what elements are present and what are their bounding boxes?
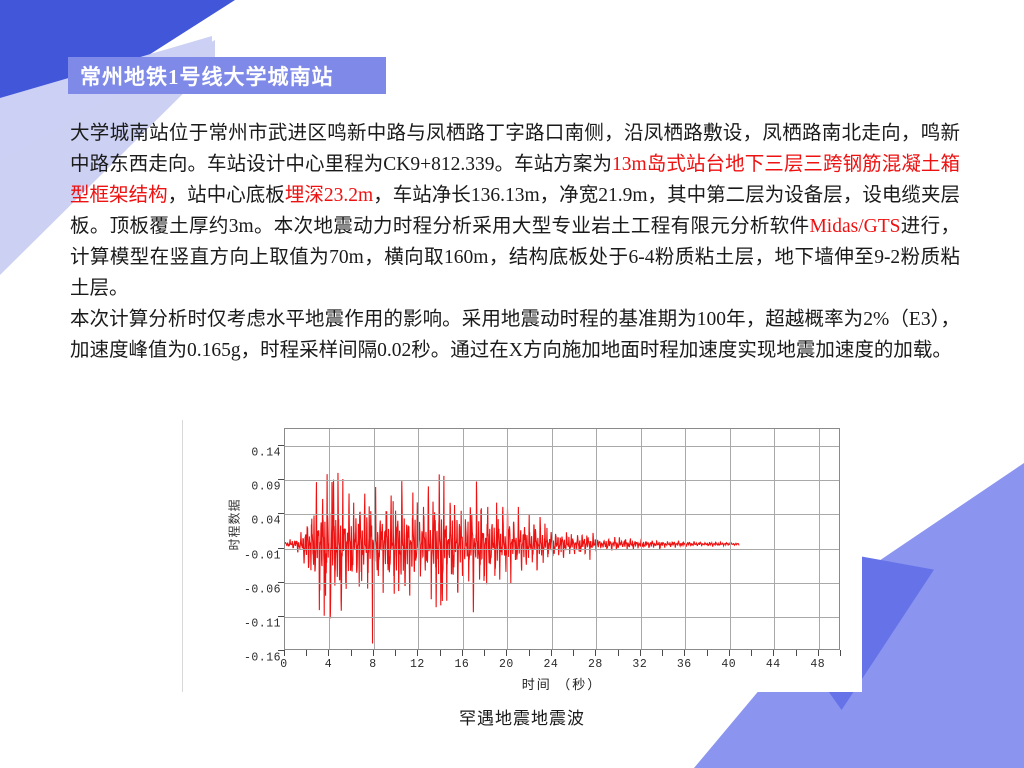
chart-x-tick: [351, 650, 352, 656]
chart-series-path: [285, 473, 739, 644]
chart-plot-area: [284, 428, 840, 650]
chart-x-tick: [395, 650, 396, 656]
chart-x-tick: [573, 650, 574, 656]
chart-x-tick-label: 32: [632, 658, 647, 671]
chart-x-tick: [773, 650, 774, 656]
chart-x-tick: [551, 650, 552, 656]
chart-x-tick: [284, 650, 285, 656]
chart-x-tick-labels: 04812162024283236404448: [284, 658, 840, 674]
chart-x-tick: [595, 650, 596, 656]
chart-x-tick-label: 24: [543, 658, 558, 671]
chart-x-axis-title: 时间 （秒）: [284, 674, 840, 693]
chart-x-tick: [306, 650, 307, 656]
chart-x-tick-label: 36: [677, 658, 692, 671]
chart-x-tick-label: 16: [455, 658, 470, 671]
chart-gridline-horizontal: [285, 480, 839, 481]
paragraph-2: 本次计算分析时仅考虑水平地震作用的影响。采用地震动时程的基准期为100年，超越概…: [70, 304, 960, 366]
chart-x-tick: [796, 650, 797, 656]
chart-x-tick: [640, 650, 641, 656]
chart-x-tick-label: 48: [810, 658, 825, 671]
acceleration-time-history-chart: 时程数据 0.140.090.04-0.01-0.06-0.11-0.16 04…: [182, 420, 862, 720]
chart-x-tick: [506, 650, 507, 656]
chart-y-tick-labels: 0.140.090.04-0.01-0.06-0.11-0.16: [223, 428, 281, 650]
chart-gridline-horizontal: [285, 446, 839, 447]
chart-x-tick: [818, 650, 819, 656]
chart-x-tick: [417, 650, 418, 656]
chart-x-tick: [729, 650, 730, 656]
chart-x-tick: [373, 650, 374, 656]
chart-gridline-horizontal: [285, 514, 839, 515]
slide-title-banner: 常州地铁1号线大学城南站: [68, 57, 386, 94]
chart-x-tick: [684, 650, 685, 656]
chart-x-tick: [484, 650, 485, 656]
chart-x-tick-label: 28: [588, 658, 603, 671]
figure-caption: 罕遇地震地震波: [182, 704, 862, 729]
chart-x-tick: [707, 650, 708, 656]
chart-gridline-horizontal: [285, 549, 839, 550]
paragraph-1-highlight-3: Midas/GTS: [809, 216, 900, 237]
paragraph-1-segment-2: ，站中心底板: [168, 185, 285, 206]
chart-card: 时程数据 0.140.090.04-0.01-0.06-0.11-0.16 04…: [182, 420, 862, 692]
chart-x-tick-marks: [284, 650, 840, 656]
paragraph-1: 大学城南站位于常州市武进区鸣新中路与凤栖路丁字路口南侧，沿凤栖路敷设，凤栖路南北…: [70, 118, 960, 304]
chart-x-tick: [618, 650, 619, 656]
chart-gridline-horizontal: [285, 583, 839, 584]
chart-y-tick-label: 0.14: [251, 447, 281, 460]
chart-y-tick-label: 0.09: [251, 481, 281, 494]
chart-x-tick-label: 20: [499, 658, 514, 671]
chart-x-tick-label: 8: [369, 658, 376, 671]
slide-canvas: 常州地铁1号线大学城南站 大学城南站位于常州市武进区鸣新中路与凤栖路丁字路口南侧…: [0, 0, 1024, 768]
chart-y-tick-label: -0.06: [244, 583, 281, 596]
chart-x-tick-label: 4: [325, 658, 332, 671]
chart-x-tick-label: 40: [721, 658, 736, 671]
body-text-block: 大学城南站位于常州市武进区鸣新中路与凤栖路丁字路口南侧，沿凤栖路敷设，凤栖路南北…: [70, 118, 960, 366]
chart-x-tick: [662, 650, 663, 656]
chart-y-tick-label: 0.04: [251, 515, 281, 528]
paragraph-1-highlight-2: 埋深23.2m: [285, 185, 373, 206]
chart-x-tick: [440, 650, 441, 656]
chart-x-tick: [328, 650, 329, 656]
chart-x-tick: [840, 650, 841, 656]
chart-x-tick-label: 44: [766, 658, 781, 671]
chart-x-tick: [462, 650, 463, 656]
page-title: 常州地铁1号线大学城南站: [68, 61, 334, 91]
chart-x-tick-label: 0: [280, 658, 287, 671]
chart-x-tick-label: 12: [410, 658, 425, 671]
decor-edge-bottom-right: [904, 568, 1024, 768]
chart-y-tick-label: -0.11: [244, 617, 281, 630]
chart-x-tick: [751, 650, 752, 656]
chart-y-tick-label: -0.01: [244, 549, 281, 562]
chart-y-tick-label: -0.16: [244, 652, 281, 665]
chart-x-tick: [529, 650, 530, 656]
chart-gridline-horizontal: [285, 617, 839, 618]
